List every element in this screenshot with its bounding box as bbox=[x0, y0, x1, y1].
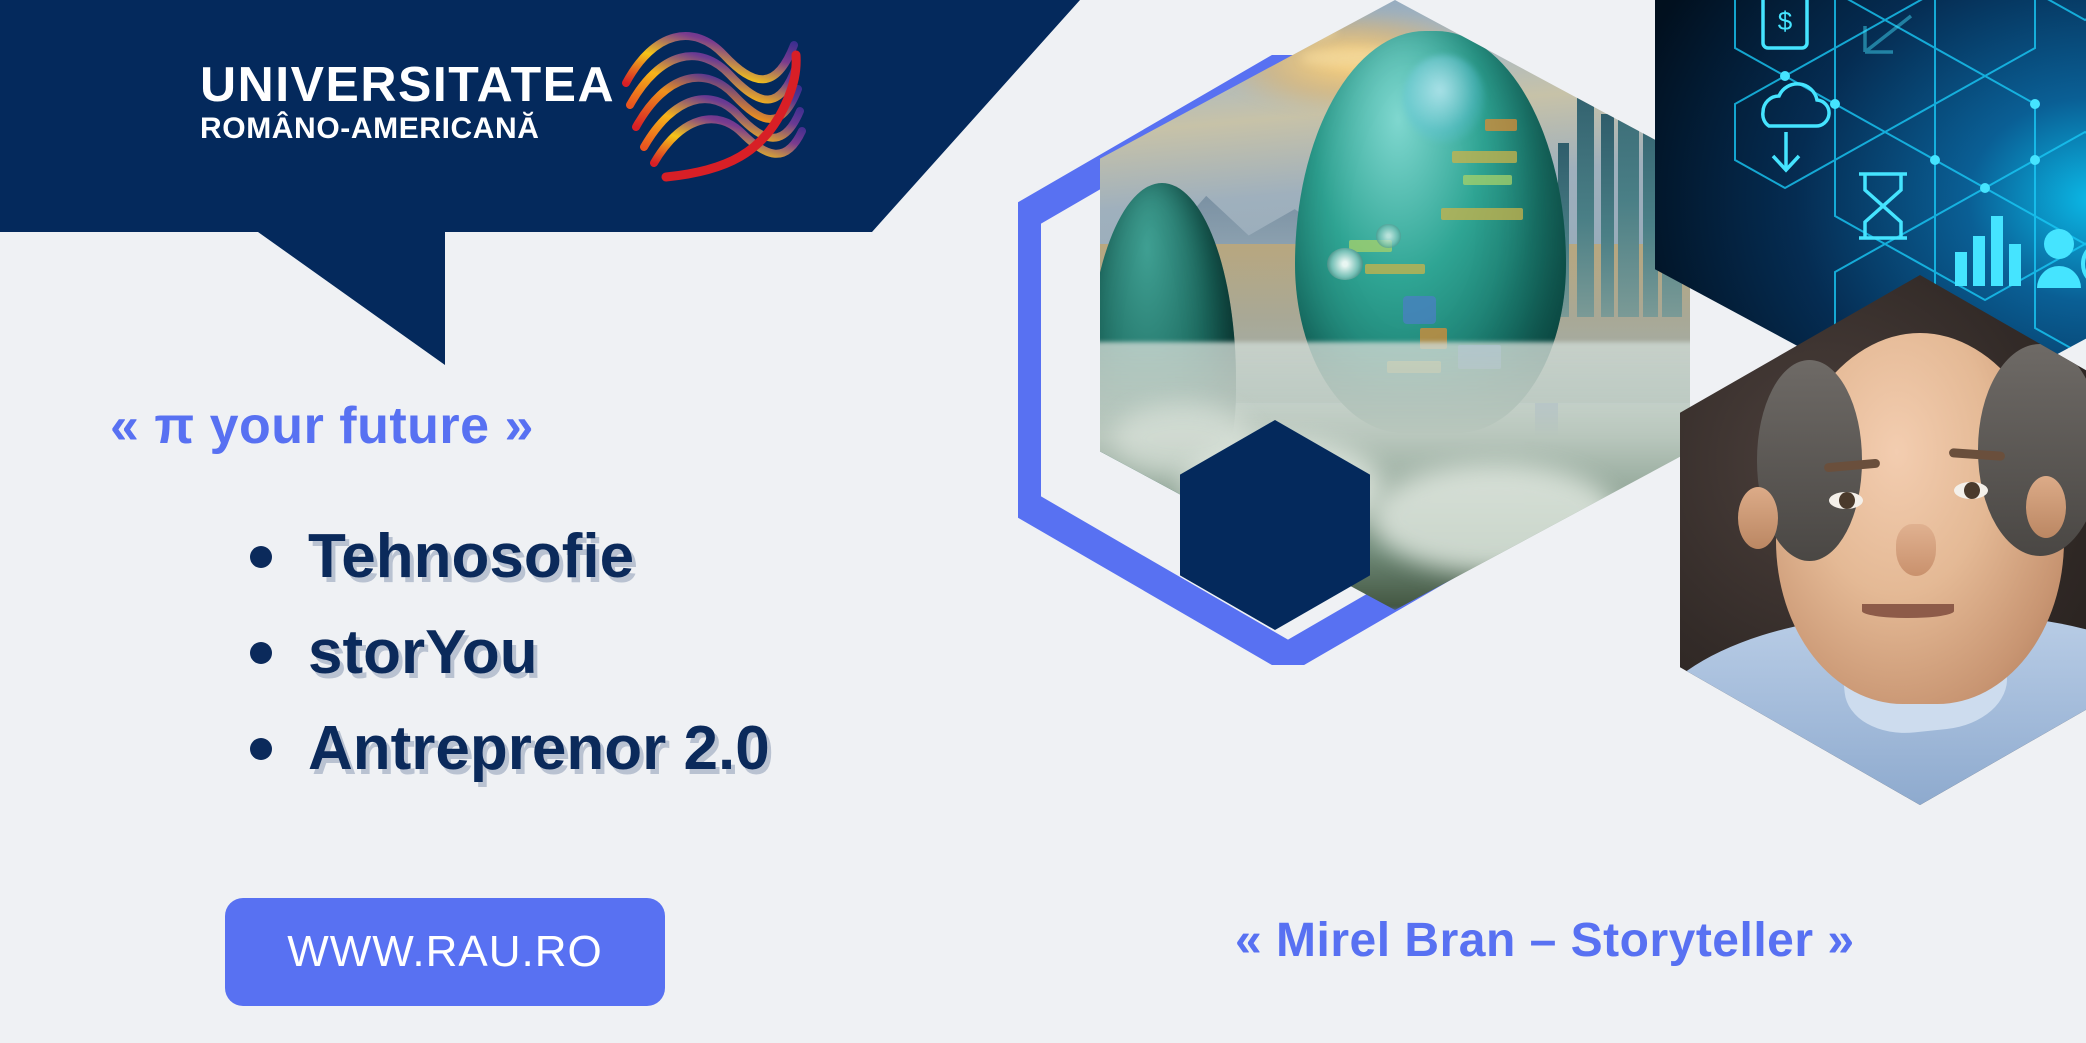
list-item-label: Tehnosofie bbox=[308, 525, 634, 588]
university-logo[interactable]: UNIVERSITATEA ROMÂNO-AMERICANĂ bbox=[200, 60, 670, 170]
tablet-dollar-icon: $ bbox=[1763, 0, 1807, 48]
speaker-caption: « Mirel Bran – Storyteller » bbox=[1235, 913, 1855, 968]
artwork-cluster: $ $ bbox=[1000, 0, 2086, 1043]
svg-text:$: $ bbox=[1778, 6, 1793, 36]
bullet-icon bbox=[250, 642, 272, 664]
list-item-label: storYou bbox=[308, 621, 538, 684]
hourglass-icon bbox=[1859, 174, 1907, 238]
cloud-download-icon bbox=[1763, 84, 1829, 170]
bar-chart-icon bbox=[1955, 216, 2021, 286]
website-cta-button[interactable]: WWW.RAU.RO bbox=[225, 898, 665, 1006]
list-item: Tehnosofie bbox=[250, 525, 770, 588]
list-item: Antreprenor 2.0 bbox=[250, 717, 770, 780]
logo-line-2: ROMÂNO-AMERICANĂ bbox=[200, 112, 670, 146]
poster-canvas: $ $ bbox=[0, 0, 2086, 1043]
rau-swoosh-icon bbox=[608, 5, 808, 195]
speaker-portrait-hexagon bbox=[1680, 275, 2086, 805]
bullet-icon bbox=[250, 546, 272, 568]
program-list: Tehnosofie storYou Antreprenor 2.0 bbox=[250, 525, 770, 814]
list-item: storYou bbox=[250, 621, 770, 684]
navy-header-banner bbox=[0, 0, 1080, 370]
list-item-label: Antreprenor 2.0 bbox=[308, 717, 770, 780]
tagline: « π your future » bbox=[110, 396, 534, 456]
bullet-icon bbox=[250, 738, 272, 760]
